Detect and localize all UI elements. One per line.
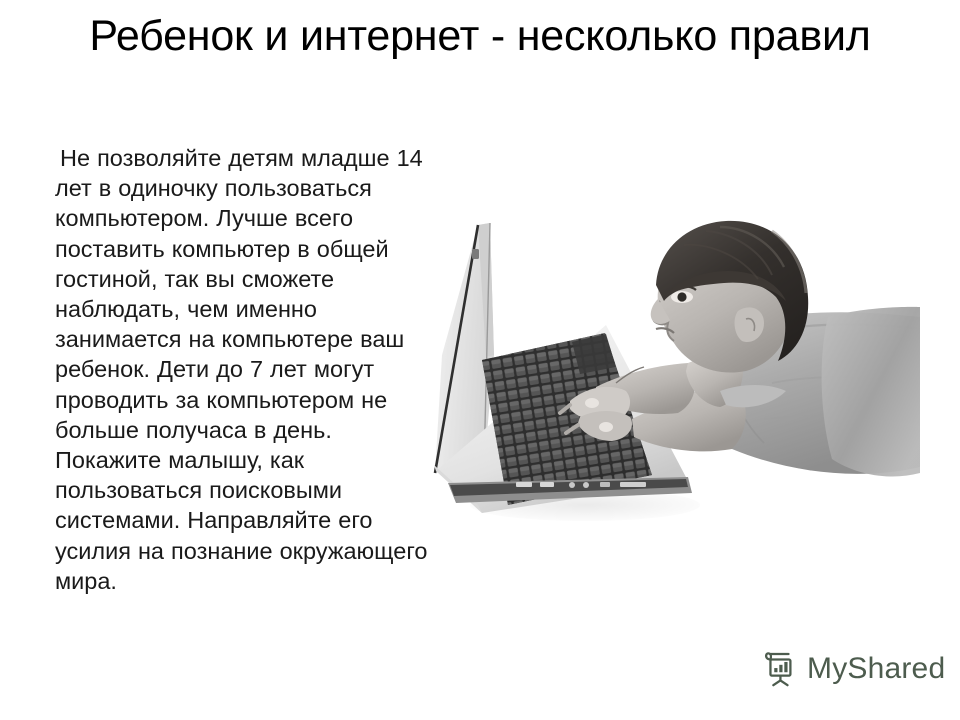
body-paragraph: Не позволяйте детям младше 14 лет в один… [55, 143, 440, 596]
photo-boy-with-laptop [420, 205, 920, 530]
boy-lower-body [822, 307, 920, 477]
photo-image [420, 205, 920, 530]
watermark-label: MyShared [807, 654, 945, 684]
page-title: Ребенок и интернет - несколько правил [60, 8, 900, 64]
slide-canvas: Ребенок и интернет - несколько правил Не… [0, 0, 960, 720]
presentation-chart-icon [760, 650, 798, 688]
watermark: MyShared [760, 650, 945, 688]
